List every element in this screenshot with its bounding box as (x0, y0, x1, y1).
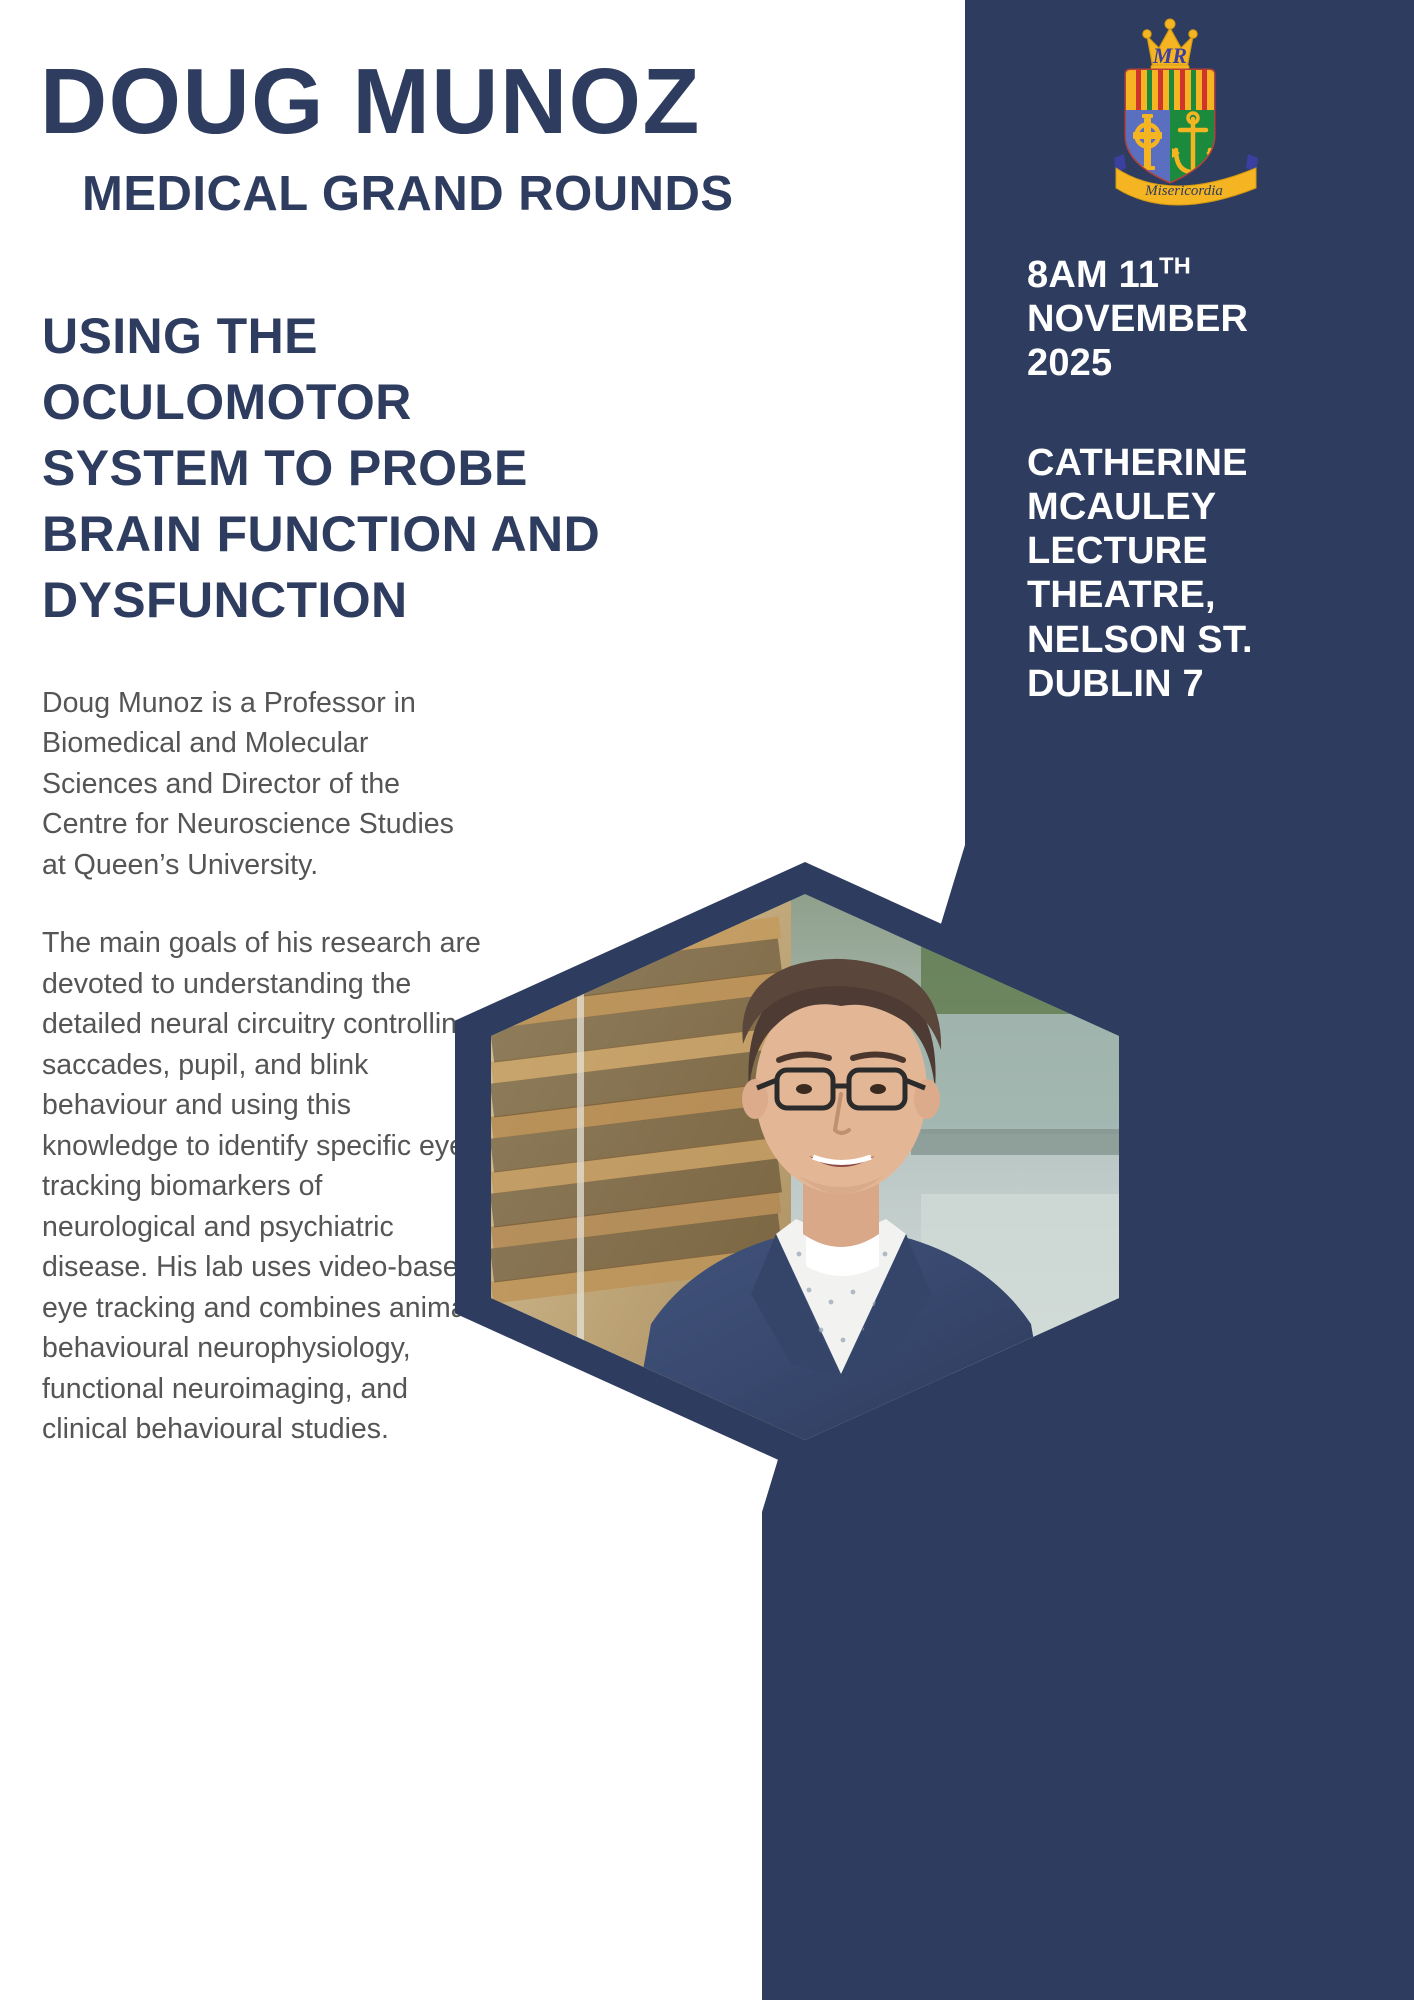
bio-paragraph-2: The main goals of his research are devot… (42, 923, 482, 1449)
event-datetime: 8AM 11TH NOVEMBER 2025 (1027, 253, 1347, 385)
poster-root: MR (0, 0, 1414, 2000)
venue-line-5: NELSON ST. (1027, 619, 1253, 661)
event-series-subtitle: MEDICAL GRAND ROUNDS (82, 170, 760, 219)
crest-monogram: MR (1152, 43, 1187, 68)
venue-line-4: THEATRE, (1027, 574, 1216, 616)
venue-line-1: CATHERINE (1027, 442, 1248, 484)
venue-line-3: LECTURE (1027, 530, 1208, 572)
event-time: 8AM 11 (1027, 254, 1159, 296)
speaker-portrait (455, 862, 1155, 1472)
venue-line-2: MCAULEY (1027, 486, 1216, 528)
speaker-bio: Doug Munoz is a Professor in Biomedical … (42, 683, 482, 1449)
mater-misericordiae-crest-icon: MR (1106, 8, 1266, 218)
event-details-column: 8AM 11TH NOVEMBER 2025 CATHERINE MCAULEY… (1027, 253, 1347, 706)
page-title: DOUG MUNOZ (40, 55, 760, 148)
event-venue: CATHERINE MCAULEY LECTURE THEATRE, NELSO… (1027, 441, 1347, 705)
date-ordinal-suffix: TH (1159, 252, 1191, 278)
talk-title: USING THE OCULOMOTOR SYSTEM TO PROBE BRA… (42, 303, 602, 633)
crest-motto: Misericordia (1144, 183, 1223, 199)
event-month: NOVEMBER (1027, 298, 1248, 340)
venue-line-6: DUBLIN 7 (1027, 663, 1204, 705)
bio-paragraph-1: Doug Munoz is a Professor in Biomedical … (42, 683, 482, 885)
event-year: 2025 (1027, 342, 1112, 384)
